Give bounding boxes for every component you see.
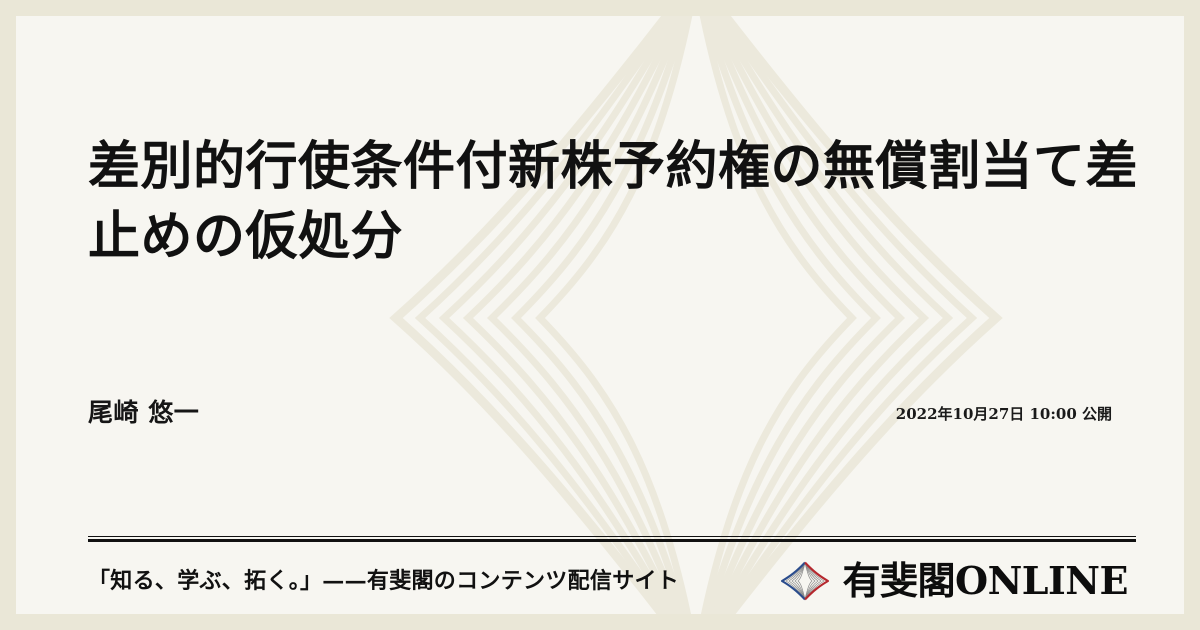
share-card: 差別的行使条件付新株予約権の無償割当て差止めの仮処分 尾崎 悠一 2022年10… [0, 0, 1200, 630]
yuhikaku-diamond-icon [780, 561, 830, 601]
card-canvas: 差別的行使条件付新株予約権の無償割当て差止めの仮処分 尾崎 悠一 2022年10… [16, 16, 1184, 614]
brand-name: 有斐閣ONLINE [842, 559, 1128, 603]
article-title: 差別的行使条件付新株予約権の無償割当て差止めの仮処分 [88, 132, 1148, 272]
site-tagline: 「知る、学ぶ、拓く。」——有斐閣のコンテンツ配信サイト [88, 564, 679, 598]
brand-lockup: 有斐閣ONLINE [780, 559, 1128, 603]
card-footer: 「知る、学ぶ、拓く。」——有斐閣のコンテンツ配信サイト [88, 556, 1128, 606]
divider-thick-line [88, 539, 1136, 542]
divider-thin-line [88, 536, 1136, 537]
article-meta: 尾崎 悠一 2022年10月27日 10:00 公開 [88, 398, 1112, 428]
yuhikaku-diamond-watermark-icon [376, 16, 1016, 614]
publish-date: 2022年10月27日 10:00 公開 [896, 403, 1112, 428]
author-name: 尾崎 悠一 [88, 398, 199, 428]
footer-divider [88, 536, 1136, 542]
